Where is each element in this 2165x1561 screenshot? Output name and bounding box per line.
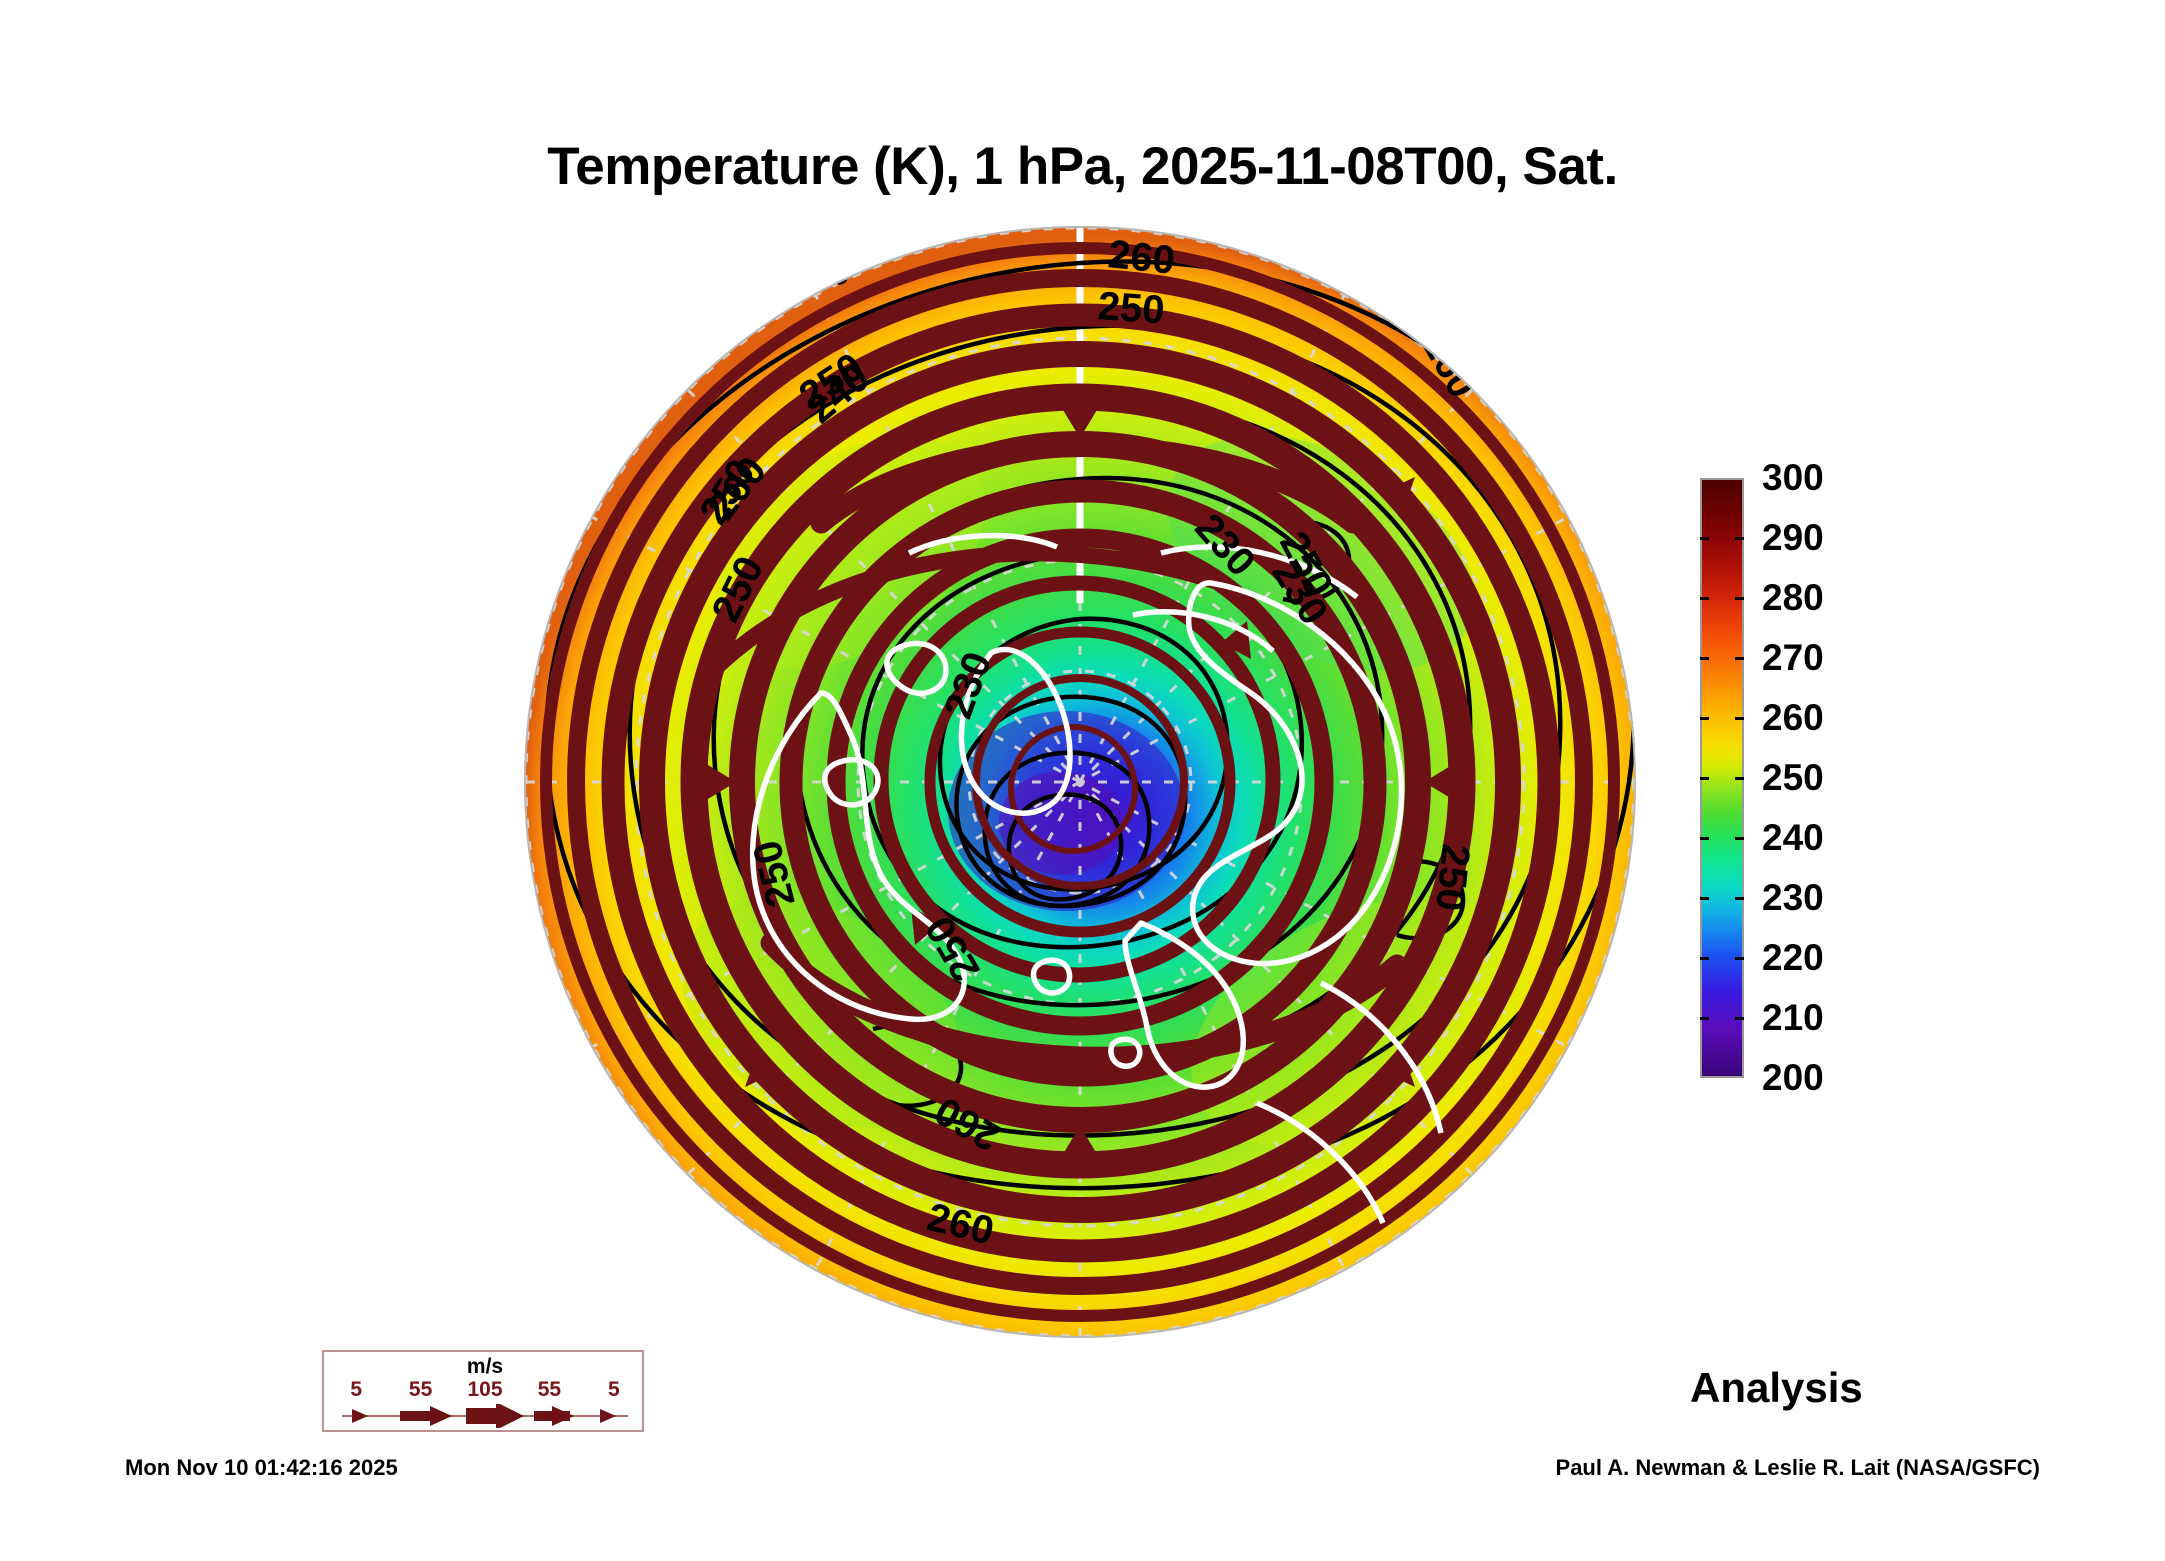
colorbar-tick-label: 230 — [1762, 879, 1824, 916]
colorbar-tick-label: 280 — [1762, 579, 1824, 616]
wind-legend-value: 55 — [517, 1378, 581, 1402]
contour-label: 250 — [1096, 284, 1166, 333]
colorbar-tick-mark — [1735, 957, 1744, 960]
colorbar-tick-label: 200 — [1762, 1059, 1824, 1096]
wind-speed-legend: m/s 555105555 — [322, 1350, 644, 1432]
generation-timestamp: Mon Nov 10 01:42:16 2025 — [125, 1455, 398, 1481]
colorbar-tick-mark — [1700, 537, 1709, 540]
colorbar-tick-mark — [1735, 537, 1744, 540]
wind-legend-units-label: m/s — [324, 1355, 646, 1379]
wind-legend-value: 105 — [453, 1378, 517, 1402]
contour-label: 250 — [1427, 842, 1478, 913]
colorbar-tick-label: 260 — [1762, 699, 1824, 736]
wind-legend-value: 5 — [324, 1378, 388, 1402]
colorbar-tick-mark — [1700, 897, 1709, 900]
contour-label: 260 — [1106, 232, 1177, 283]
colorbar-tick-label: 250 — [1762, 759, 1824, 796]
wind-legend-value: 55 — [388, 1378, 452, 1402]
colorbar-tick-label: 290 — [1762, 519, 1824, 556]
colorbar-tick-mark — [1700, 777, 1709, 780]
colorbar-tick-mark — [1735, 897, 1744, 900]
polar-stereographic-map: 260 250 260 260 250 250 240 250 230 230 … — [521, 223, 1639, 1341]
colorbar-tick-mark — [1700, 597, 1709, 600]
wind-legend-values: 555105555 — [324, 1378, 646, 1402]
colorbar-tick-mark — [1700, 957, 1709, 960]
author-credit: Paul A. Newman & Leslie R. Lait (NASA/GS… — [1556, 1455, 2040, 1481]
colorbar-tick-mark — [1700, 717, 1709, 720]
colorbar-tick-label: 220 — [1762, 939, 1824, 976]
colorbar-tick-label: 270 — [1762, 639, 1824, 676]
colorbar-tick-mark — [1735, 657, 1744, 660]
colorbar-tick-mark — [1735, 837, 1744, 840]
wind-legend-arrow-scale — [324, 1404, 646, 1428]
analysis-label: Analysis — [1690, 1364, 1863, 1412]
colorbar-tick-mark — [1700, 1017, 1709, 1020]
page-title: Temperature (K), 1 hPa, 2025-11-08T00, S… — [0, 136, 2165, 197]
colorbar-tick-label: 210 — [1762, 999, 1824, 1036]
colorbar-tick-mark — [1735, 1017, 1744, 1020]
colorbar-tick-mark — [1700, 657, 1709, 660]
colorbar-tick-label: 240 — [1762, 819, 1824, 856]
polar-map-panel: 260 250 260 260 250 250 240 250 230 230 … — [521, 223, 1639, 1341]
colorbar-tick-mark — [1735, 597, 1744, 600]
colorbar: 300290280270260250240230220210200 — [1700, 478, 1960, 1078]
colorbar-tick-mark — [1735, 777, 1744, 780]
colorbar-tick-label: 300 — [1762, 459, 1824, 496]
colorbar-tick-mark — [1700, 837, 1709, 840]
colorbar-tick-mark — [1735, 717, 1744, 720]
temperature-field: 260 250 260 260 250 250 240 250 230 230 … — [524, 226, 1639, 1338]
wind-legend-value: 5 — [582, 1378, 646, 1402]
